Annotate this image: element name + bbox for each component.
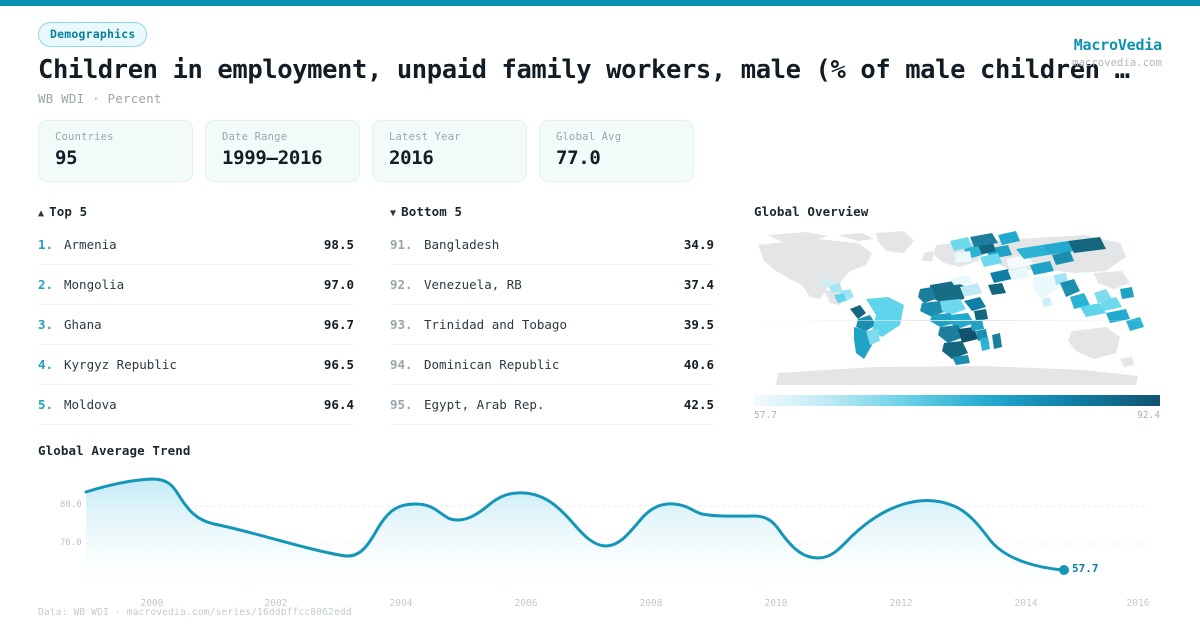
y-tick-70: 70.0 (60, 538, 82, 548)
stat-value: 2016 (389, 147, 510, 169)
page-root: Demographics Children in employment, unp… (0, 6, 1200, 630)
brand-url: macrovedia.com (1072, 57, 1162, 69)
country-name: Moldova (64, 397, 324, 412)
page-subtitle: WB WDI · Percent (38, 91, 1162, 106)
value: 96.7 (324, 317, 354, 332)
rank: 1. (38, 237, 64, 252)
bottom5-title-label: Bottom 5 (401, 204, 462, 219)
footer-source: Data: WB WDI · macrovedia.com/series/16d… (38, 607, 352, 618)
bottom5-rows: 91. Bangladesh 34.9 92. Venezuela, RB 37… (390, 225, 750, 425)
table-row[interactable]: 1. Armenia 98.5 (38, 225, 354, 265)
world-map-svg (754, 227, 1160, 387)
value: 40.6 (684, 357, 714, 372)
map-panel: Global Overview (750, 204, 1162, 425)
mid-section: ▲Top 5 1. Armenia 98.5 2. Mongolia 97.0 … (38, 204, 1162, 425)
legend-labels: 57.7 92.4 (754, 410, 1160, 421)
table-row[interactable]: 4. Kyrgyz Republic 96.5 (38, 345, 354, 385)
table-row[interactable]: 94. Dominican Republic 40.6 (390, 345, 714, 385)
stat-card-global-avg: Global Avg 77.0 (539, 120, 694, 182)
triangle-down-icon: ▼ (390, 208, 396, 219)
page-title: Children in employment, unpaid family wo… (38, 56, 1162, 85)
value: 42.5 (684, 397, 714, 412)
rank: 3. (38, 317, 64, 332)
map-legend: 57.7 92.4 (754, 395, 1160, 421)
bottom5-title: ▼Bottom 5 (390, 204, 750, 219)
rank: 91. (390, 237, 424, 252)
table-row[interactable]: 95. Egypt, Arab Rep. 42.5 (390, 385, 714, 425)
table-row[interactable]: 93. Trinidad and Tobago 39.5 (390, 305, 714, 345)
country-name: Mongolia (64, 277, 324, 292)
rank: 95. (390, 397, 424, 412)
table-row[interactable]: 5. Moldova 96.4 (38, 385, 354, 425)
value: 97.0 (324, 277, 354, 292)
value: 37.4 (684, 277, 714, 292)
trend-chart-svg (38, 466, 1162, 596)
stat-value: 95 (55, 147, 176, 169)
country-name: Dominican Republic (424, 357, 684, 372)
stat-card-latest-year: Latest Year 2016 (372, 120, 527, 182)
stat-card-countries: Countries 95 (38, 120, 193, 182)
country-name: Armenia (64, 237, 324, 252)
bottom5-panel: ▼Bottom 5 91. Bangladesh 34.9 92. Venezu… (390, 204, 750, 425)
stat-label: Global Avg (556, 131, 677, 143)
y-tick-80: 80.0 (60, 500, 82, 510)
x-tick: 2008 (640, 598, 663, 609)
country-name: Kyrgyz Republic (64, 357, 324, 372)
country-name: Bangladesh (424, 237, 684, 252)
value: 98.5 (324, 237, 354, 252)
top5-panel: ▲Top 5 1. Armenia 98.5 2. Mongolia 97.0 … (38, 204, 390, 425)
x-tick: 2016 (1127, 598, 1150, 609)
x-tick: 2004 (390, 598, 413, 609)
table-row[interactable]: 91. Bangladesh 34.9 (390, 225, 714, 265)
brand[interactable]: MacroVedia macrovedia.com (1072, 36, 1162, 69)
category-badge[interactable]: Demographics (38, 22, 147, 47)
x-tick: 2014 (1015, 598, 1038, 609)
map-title: Global Overview (754, 204, 1162, 219)
legend-max: 92.4 (1137, 410, 1160, 421)
world-map[interactable] (754, 227, 1160, 387)
stat-value: 1999—2016 (222, 147, 343, 169)
value: 96.5 (324, 357, 354, 372)
stat-label: Latest Year (389, 131, 510, 143)
value: 96.4 (324, 397, 354, 412)
table-row[interactable]: 2. Mongolia 97.0 (38, 265, 354, 305)
triangle-up-icon: ▲ (38, 208, 44, 219)
table-row[interactable]: 3. Ghana 96.7 (38, 305, 354, 345)
top5-title: ▲Top 5 (38, 204, 390, 219)
legend-min: 57.7 (754, 410, 777, 421)
rank: 94. (390, 357, 424, 372)
country-name: Trinidad and Tobago (424, 317, 684, 332)
stat-label: Date Range (222, 131, 343, 143)
trend-end-label: 57.7 (1072, 562, 1099, 575)
table-row[interactable]: 92. Venezuela, RB 37.4 (390, 265, 714, 305)
rank: 92. (390, 277, 424, 292)
brand-name: MacroVedia (1072, 36, 1162, 54)
top5-rows: 1. Armenia 98.5 2. Mongolia 97.0 3. Ghan… (38, 225, 390, 425)
x-tick: 2006 (515, 598, 538, 609)
x-tick: 2010 (765, 598, 788, 609)
trend-chart[interactable]: 80.0 70.0 57.7 (38, 466, 1162, 596)
stat-card-date-range: Date Range 1999—2016 (205, 120, 360, 182)
rank: 4. (38, 357, 64, 372)
legend-gradient-bar (754, 395, 1160, 406)
value: 34.9 (684, 237, 714, 252)
rank: 2. (38, 277, 64, 292)
stat-label: Countries (55, 131, 176, 143)
trend-end-point (1059, 565, 1069, 575)
stat-cards: Countries 95 Date Range 1999—2016 Latest… (38, 120, 1162, 182)
country-name: Ghana (64, 317, 324, 332)
trend-panel: Global Average Trend 80.0 70.0 57.7 (38, 443, 1162, 614)
x-tick: 2012 (890, 598, 913, 609)
top5-title-label: Top 5 (49, 204, 87, 219)
value: 39.5 (684, 317, 714, 332)
country-name: Venezuela, RB (424, 277, 684, 292)
stat-value: 77.0 (556, 147, 677, 169)
rank: 5. (38, 397, 64, 412)
header: Demographics Children in employment, unp… (38, 6, 1162, 106)
country-name: Egypt, Arab Rep. (424, 397, 684, 412)
rank: 93. (390, 317, 424, 332)
trend-title: Global Average Trend (38, 443, 1162, 458)
